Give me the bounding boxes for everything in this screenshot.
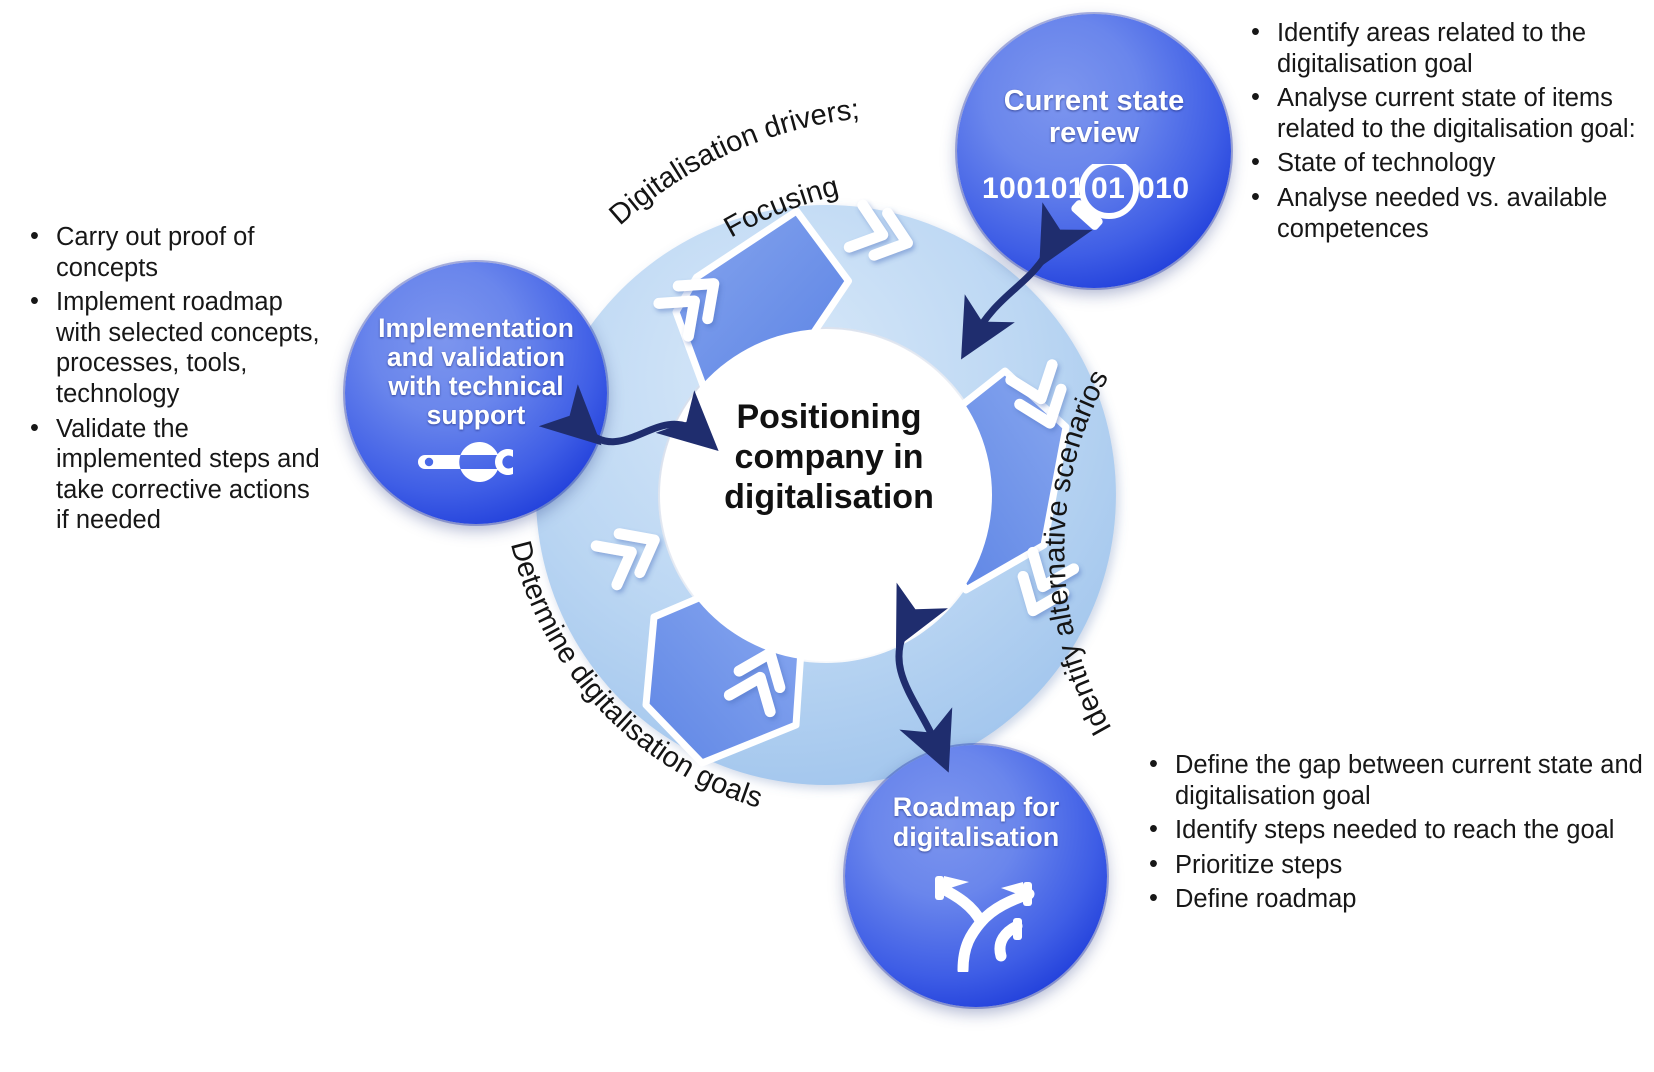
list-item-text: Identify areas related to the digitalisa… [1277,19,1586,78]
bullet-list: •Carry out proof of concepts •Implement … [22,222,322,536]
node-roadmap-for-digitalisation[interactable]: Roadmap for digitalisation [845,745,1107,1007]
bullet-list: •Define the gap between current state an… [1141,750,1646,915]
list-item: •Define the gap between current state an… [1141,750,1646,811]
center-label-line3: digitalisation [700,478,958,518]
node-implementation-and-validation[interactable]: Implementation and validation with techn… [345,262,607,524]
bullet-glyph: • [1149,883,1158,914]
list-item-text: Implement roadmap with selected concepts… [56,288,320,408]
bullet-glyph: • [1251,17,1260,48]
bullet-glyph: • [1251,182,1260,213]
center-label-line2: company in [700,438,958,478]
list-item-text: Identify steps needed to reach the goal [1175,816,1614,844]
list-item-text: Analyse current state of items related t… [1277,84,1636,143]
bullet-glyph: • [30,286,39,317]
list-item: •Prioritize steps [1141,850,1646,881]
list-item: •Implement roadmap with selected concept… [22,287,322,409]
list-item: •Carry out proof of concepts [22,222,322,283]
bullet-glyph: • [1149,814,1158,845]
svg-text:01: 01 [1091,172,1125,205]
center-label: Positioning company in digitalisation [700,398,958,517]
list-item-text: Analyse needed vs. available competences [1277,184,1607,243]
list-item: •Identify areas related to the digitalis… [1243,18,1643,79]
bullet-glyph: • [1251,82,1260,113]
list-item: •Validate the implemented steps and take… [22,414,322,536]
list-item: •Analyse needed vs. available competence… [1243,183,1643,244]
list-item: •State of technology [1243,148,1643,179]
list-item-text: Carry out proof of concepts [56,223,254,282]
list-item-text: State of technology [1277,149,1495,177]
text-block-current-state-review: •Identify areas related to the digitalis… [1243,18,1643,248]
node-title: Implementation and validation with techn… [366,314,586,431]
list-item-text: Validate the implemented steps and take … [56,415,320,535]
diagram-canvas: Digitalisation drivers; Focusing Identif… [0,0,1654,1072]
list-item: •Define roadmap [1141,884,1646,915]
center-label-line1: Positioning [700,398,958,438]
bullet-glyph: • [1251,147,1260,178]
wrench-icon [412,441,540,488]
list-item-text: Prioritize steps [1175,851,1342,879]
svg-text:100101: 100101 [982,172,1085,205]
node-title: Current state review [992,86,1197,150]
bullet-glyph: • [30,221,39,252]
node-title: Roadmap for digitalisation [881,793,1072,852]
bullet-glyph: • [30,413,39,444]
list-item: •Identify steps needed to reach the goal [1141,815,1646,846]
bullet-glyph: • [1149,749,1158,780]
list-item-text: Define roadmap [1175,885,1356,913]
forking-road-icon [901,860,1051,977]
list-item-text: Define the gap between current state and… [1175,751,1643,810]
list-item: •Analyse current state of items related … [1243,83,1643,144]
text-block-roadmap: •Define the gap between current state an… [1141,750,1646,919]
svg-text:010: 010 [1138,172,1190,205]
node-current-state-review[interactable]: Current state review 100101 010 01 [957,14,1231,288]
text-block-implementation: •Carry out proof of concepts •Implement … [22,222,322,540]
bullet-glyph: • [1149,849,1158,880]
magnifier-binary-icon: 100101 010 01 [978,164,1210,255]
bullet-list: •Identify areas related to the digitalis… [1243,18,1643,244]
